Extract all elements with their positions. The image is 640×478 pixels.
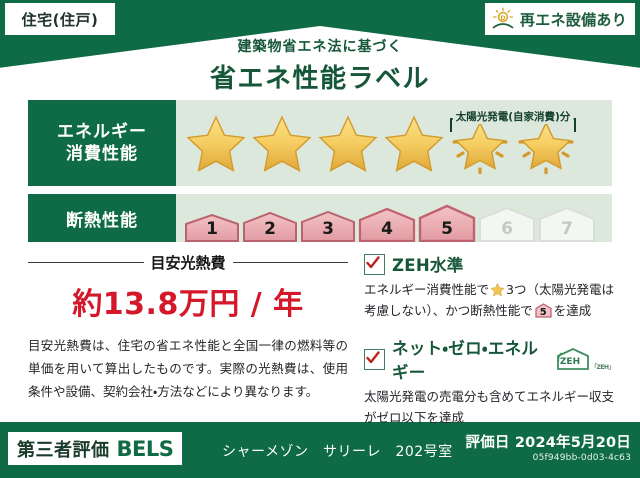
bels-badge: 第三者評価 BELS <box>8 432 182 465</box>
star-icon-inline <box>490 282 505 297</box>
utility-cost-block: 目安光熱費 約13.8万円 / 年 目安光熱費は、住宅の省エネ性能と全国一律の燃… <box>28 252 348 403</box>
insulation-level-2-label: 2 <box>242 219 298 239</box>
energy-category-line1: エネルギー <box>57 121 147 143</box>
bels-label: BELS <box>117 437 174 461</box>
star-icon <box>250 112 314 174</box>
label-card: エネルギー 消費性能 <box>14 96 626 414</box>
zeh-desc-part1: エネルギー消費性能で <box>364 282 489 297</box>
insulation-level-4: 4 <box>358 207 416 242</box>
renewable-equipment-label: 再エネ設備あり <box>520 9 627 30</box>
insulation-level-4-label: 4 <box>358 219 416 239</box>
insulation-level-3: 3 <box>300 210 356 242</box>
star-icon <box>316 112 380 174</box>
zeh-standard-block: ZEH水準 エネルギー消費性能で3つ（太陽光発電は考慮しない）、かつ断熱性能で5… <box>364 252 614 321</box>
svg-text:ZEH: ZEH <box>560 357 580 367</box>
energy-star-rating: 太陽光発電(自家消費)分 <box>184 100 578 186</box>
check-icon <box>364 254 385 275</box>
label-title-block: 建築物省エネ法に基づく 省エネ性能ラベル <box>0 36 640 95</box>
insulation-badge-inline: 5 <box>535 303 552 318</box>
house-type-badge: 住宅(住戸) <box>5 3 115 35</box>
zeh-logo-mini-label: 「ZEH」 <box>591 362 614 371</box>
energy-consumption-row: エネルギー 消費性能 <box>28 100 612 186</box>
insulation-badge-inline-label: 5 <box>540 305 547 322</box>
zeh-standard-title: ZEH水準 <box>392 252 464 276</box>
insulation-level-5: 5 <box>418 204 476 242</box>
insulation-level-1: 1 <box>184 213 240 242</box>
evaluation-id: 05f949bb-0d03-4c63 <box>466 453 631 463</box>
utility-cost-value: 約13.8万円 / 年 <box>28 279 348 323</box>
zeh-standard-title-line: ZEH水準 <box>364 252 614 276</box>
house-type-badge-label: 住宅(住戸) <box>22 9 99 30</box>
insulation-level-7: 7 <box>538 206 596 242</box>
insulation-level-scale: 1 2 3 4 <box>184 194 596 246</box>
page-title: 省エネ性能ラベル <box>0 58 640 95</box>
insulation-level-5-label: 5 <box>418 219 476 239</box>
footer-bar: 第三者評価 BELS シャーメゾン サリーレ 202号室 評価日 2024年5月… <box>0 422 640 478</box>
sun-solar-icon: D <box>490 6 516 32</box>
star-icon <box>184 112 248 174</box>
solar-bracket: 太陽光発電(自家消費)分 <box>450 118 576 132</box>
energy-performance-label: 住宅(住戸) D 再エネ設備あり 建築物省エネ法に基づく 省エネ性能ラベル エネ… <box>0 0 640 478</box>
net-zero-title: ネット・ゼロ・エネルギー <box>392 335 545 383</box>
certification-checks: ZEH水準 エネルギー消費性能で3つ（太陽光発電は考慮しない）、かつ断熱性能で5… <box>364 252 614 429</box>
zeh-desc-part3: を達成 <box>554 303 592 318</box>
insulation-category-label: 断熱性能 <box>66 206 138 231</box>
utility-cost-note: 目安光熱費は、住宅の省エネ性能と全国一律の燃料等の単価を用いて算出したものです。… <box>28 335 348 403</box>
zeh-house-logo: ZEH 「ZEH」 <box>556 347 614 371</box>
third-party-evaluation-label: 第三者評価 <box>17 436 110 462</box>
insulation-level-7-label: 7 <box>538 219 596 239</box>
net-zero-energy-block: ネット・ゼロ・エネルギー ZEH 「ZEH」 太陽光発電の売電分も含めてエネルギ… <box>364 335 614 428</box>
insulation-level-1-label: 1 <box>184 219 240 239</box>
energy-category-line2: 消費性能 <box>66 143 138 165</box>
energy-consumption-category: エネルギー 消費性能 <box>28 100 176 186</box>
net-zero-description: 太陽光発電の売電分も含めてエネルギー収支がゼロ以下を達成 <box>364 387 614 428</box>
check-icon <box>364 349 385 370</box>
divider-left <box>28 262 144 263</box>
property-name: シャーメゾン サリーレ 202号室 <box>222 441 453 461</box>
insulation-level-6-label: 6 <box>478 219 536 239</box>
renewable-equipment-badge: D 再エネ設備あり <box>485 3 635 35</box>
insulation-level-6: 6 <box>478 206 536 242</box>
star-icon <box>382 112 446 174</box>
title-subtitle: 建築物省エネ法に基づく <box>0 36 640 56</box>
utility-cost-heading-label: 目安光熱費 <box>151 252 226 273</box>
evaluation-date: 評価日 2024年5月20日 <box>466 431 631 452</box>
utility-cost-heading: 目安光熱費 <box>28 252 348 273</box>
zeh-standard-description: エネルギー消費性能で3つ（太陽光発電は考慮しない）、かつ断熱性能で5を達成 <box>364 280 614 321</box>
solar-annotation-label: 太陽光発電(自家消費)分 <box>453 109 574 124</box>
net-zero-title-line: ネット・ゼロ・エネルギー ZEH 「ZEH」 <box>364 335 614 383</box>
solar-star-group: 太陽光発電(自家消費)分 <box>448 112 578 174</box>
evaluation-date-block: 評価日 2024年5月20日 05f949bb-0d03-4c63 <box>466 431 631 463</box>
insulation-level-2: 2 <box>242 211 298 242</box>
svg-text:D: D <box>500 15 505 22</box>
insulation-level-3-label: 3 <box>300 219 356 239</box>
insulation-performance-row: 断熱性能 1 2 <box>28 194 612 242</box>
insulation-category: 断熱性能 <box>28 194 176 242</box>
divider-right <box>233 262 349 263</box>
